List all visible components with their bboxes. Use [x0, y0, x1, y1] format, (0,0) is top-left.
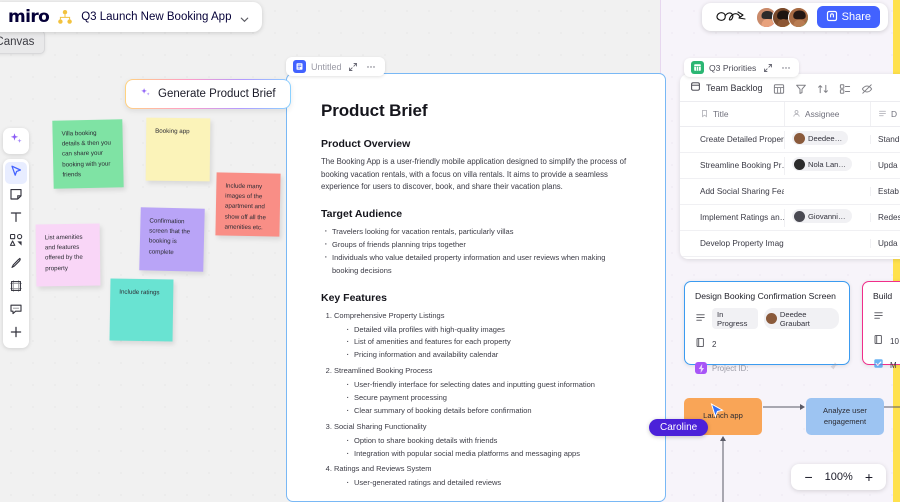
- card-check-row: M: [873, 356, 900, 374]
- note-include-ratings[interactable]: Include ratings: [110, 279, 174, 342]
- feature-sublist: Detailed villa profiles with high-qualit…: [346, 324, 633, 363]
- sparkle-icon: [9, 132, 23, 151]
- card-count-row: 10: [873, 332, 900, 350]
- sparkle-icon: [140, 87, 151, 101]
- card-title: Build: [873, 291, 900, 301]
- group-icon[interactable]: [839, 82, 851, 94]
- table-source-name[interactable]: Team Backlog: [690, 81, 763, 94]
- flow-node-label: Analyze user engagement: [810, 406, 880, 427]
- text-t-icon: [9, 210, 23, 229]
- team-board-icon: [57, 9, 73, 25]
- table-row[interactable]: Streamline Booking Pr…Nola Lan…Upda: [680, 153, 900, 179]
- assignee-label: Deedee…: [808, 134, 842, 143]
- expand-icon[interactable]: [347, 60, 360, 73]
- pin-icon[interactable]: [828, 359, 839, 377]
- assignee-pill[interactable]: Nola Lan…: [792, 157, 852, 171]
- table-header-row: Title Assignee D: [680, 102, 900, 127]
- note-villa-booking[interactable]: Villa booking details & then you can sha…: [52, 119, 123, 188]
- list-item: Detailed villa profiles with high-qualit…: [346, 324, 633, 337]
- generate-brief-label: Generate Product Brief: [158, 88, 276, 100]
- note-include-images[interactable]: Include many images of the apartment and…: [215, 172, 280, 236]
- feature-sublist: Option to share booking details with fri…: [346, 435, 633, 461]
- table-source-label: Team Backlog: [706, 83, 763, 93]
- bookmark-icon: [700, 109, 709, 120]
- card-count: 10: [890, 337, 899, 346]
- more-dots-icon[interactable]: [365, 60, 378, 73]
- cell-assignee[interactable]: Deedee…: [784, 131, 870, 149]
- table-chip-label: Q3 Priorities: [709, 63, 756, 73]
- share-lock-icon: [826, 10, 838, 25]
- table-icon: [691, 61, 704, 74]
- assignee-pill[interactable]: Deedee…: [792, 131, 848, 145]
- filter-icon[interactable]: [795, 82, 807, 94]
- list-item: List of amenities and features for each …: [346, 336, 633, 349]
- zoom-in-button[interactable]: +: [865, 470, 873, 484]
- cell-title[interactable]: Streamline Booking Pr…: [680, 161, 784, 170]
- checkbox-icon[interactable]: [873, 356, 884, 374]
- card-project-row: Project ID:: [695, 359, 839, 377]
- expand-icon[interactable]: [761, 61, 774, 74]
- list-item: Groups of friends planning trips togethe…: [323, 239, 633, 252]
- card-count: 2: [712, 340, 716, 349]
- comment-icon: [9, 302, 23, 321]
- product-overview-paragraph: The Booking App is a user-friendly mobil…: [321, 156, 633, 194]
- lightning-icon: [695, 362, 707, 374]
- table-row[interactable]: Add Social Sharing Fea…Estab: [680, 179, 900, 205]
- list-item: Travelers looking for vacation rentals, …: [323, 226, 633, 239]
- table-toolbar: Team Backlog: [680, 74, 900, 102]
- avatar: [794, 133, 805, 144]
- select-tool[interactable]: [5, 162, 27, 184]
- remote-cursor-pointer: [710, 403, 724, 420]
- zoom-control: − 100% +: [791, 464, 886, 490]
- share-label: Share: [842, 11, 871, 23]
- cell-title[interactable]: Add Social Sharing Fea…: [680, 187, 784, 196]
- frame-icon: [9, 279, 23, 298]
- description-icon: [878, 109, 887, 120]
- flow-node-analyze-engagement[interactable]: Analyze user engagement: [806, 398, 884, 435]
- cell-description[interactable]: Stand: [870, 135, 900, 144]
- table-body: Create Detailed Proper…Deedee…StandStrea…: [680, 127, 900, 257]
- board-title[interactable]: Q3 Launch New Booking App: [81, 11, 231, 23]
- sticky-note-tool[interactable]: [5, 185, 27, 207]
- section-heading-target-audience: Target Audience: [321, 208, 633, 220]
- document-chip[interactable]: Untitled: [286, 57, 385, 76]
- product-brief-document[interactable]: Product Brief Product Overview The Booki…: [286, 73, 666, 502]
- list-icon: [695, 310, 706, 328]
- table-row[interactable]: Implement Ratings an…Giovanni…Redes: [680, 205, 900, 231]
- doc-count-icon: [873, 332, 884, 350]
- list-item: Individuals who value detailed property …: [323, 252, 633, 278]
- sort-icon[interactable]: [817, 82, 829, 94]
- list-item: Secure payment processing: [346, 392, 633, 405]
- column-header-assignee[interactable]: Assignee: [784, 102, 870, 126]
- list-item: Ratings and Reviews System User-generate…: [334, 463, 633, 490]
- section-heading-key-features: Key Features: [321, 292, 633, 304]
- feature-label: Comprehensive Property Listings: [334, 311, 444, 320]
- card-status-row: [873, 308, 900, 326]
- ai-sparkle-tool[interactable]: [3, 128, 29, 154]
- table-row[interactable]: Create Detailed Proper…Deedee…Stand: [680, 127, 900, 153]
- avatar: [794, 159, 805, 170]
- card-build[interactable]: Build 10 M: [862, 281, 900, 365]
- cell-title[interactable]: Create Detailed Proper…: [680, 135, 784, 144]
- assignee-label: Giovanni…: [808, 212, 846, 221]
- board-header: miro Q3 Launch New Booking App: [0, 2, 262, 32]
- card-count-row: 2: [695, 335, 839, 353]
- note-booking-app[interactable]: Booking app: [146, 118, 211, 182]
- tool-group: [3, 159, 29, 348]
- table-row[interactable]: Develop Property Imag…Upda: [680, 231, 900, 257]
- doc-count-icon: [695, 335, 706, 353]
- cell-description[interactable]: Upda: [870, 239, 900, 248]
- cell-title[interactable]: Develop Property Imag…: [680, 239, 784, 248]
- status-badge[interactable]: In Progress: [712, 308, 758, 329]
- cell-description[interactable]: Upda: [870, 161, 900, 170]
- more-dots-icon[interactable]: [779, 61, 792, 74]
- feature-sublist: User-friendly interface for selecting da…: [346, 379, 633, 418]
- list-item: User-friendly interface for selecting da…: [346, 379, 633, 392]
- feature-label: Streamlined Booking Process: [334, 366, 432, 375]
- cell-title[interactable]: Implement Ratings an…: [680, 213, 784, 222]
- feature-label: Ratings and Reviews System: [334, 464, 432, 473]
- database-icon: [690, 81, 701, 94]
- generate-product-brief-button[interactable]: Generate Product Brief: [125, 79, 291, 109]
- list-item: Pricing information and availability cal…: [346, 349, 633, 362]
- list-item: Social Sharing Functionality Option to s…: [334, 421, 633, 461]
- table-chip[interactable]: Q3 Priorities: [684, 58, 799, 77]
- assignee-label: Nola Lan…: [808, 160, 846, 169]
- column-header-description[interactable]: D: [870, 102, 900, 126]
- card-status-row: In Progress Deedee Graubart: [695, 308, 839, 329]
- list-item: Comprehensive Property Listings Detailed…: [334, 310, 633, 363]
- comment-tool[interactable]: [5, 300, 27, 322]
- frame-tool[interactable]: [5, 277, 27, 299]
- share-button[interactable]: Share: [817, 6, 880, 28]
- card-design-booking-confirmation[interactable]: Design Booking Confirmation Screen In Pr…: [684, 281, 850, 365]
- column-label: Assignee: [805, 109, 839, 119]
- list-item: Streamlined Booking Process User-friendl…: [334, 365, 633, 418]
- list-item: User-generated ratings and detailed revi…: [346, 477, 633, 490]
- feature-sublist: User-generated ratings and detailed revi…: [346, 477, 633, 490]
- card-project-label: Project ID:: [712, 364, 748, 373]
- cell-assignee[interactable]: Nola Lan…: [784, 157, 870, 175]
- list-item: Clear summary of booking details before …: [346, 405, 633, 418]
- avatar-group[interactable]: [756, 7, 809, 28]
- assignee-pill[interactable]: Giovanni…: [792, 209, 852, 223]
- document-chip-label: Untitled: [311, 62, 342, 72]
- cell-description[interactable]: Redes: [870, 213, 900, 222]
- pen-tool[interactable]: [5, 254, 27, 276]
- add-row-button[interactable]: +: [680, 257, 900, 259]
- feature-label: Social Sharing Functionality: [334, 422, 427, 431]
- list-item: Option to share booking details with fri…: [346, 435, 633, 448]
- left-toolbar: [3, 128, 29, 348]
- more-apps-tool[interactable]: [5, 323, 27, 345]
- column-label: Title: [713, 109, 729, 119]
- section-heading-product-overview: Product Overview: [321, 138, 633, 150]
- list-icon: [873, 308, 884, 326]
- miro-logo[interactable]: miro: [8, 7, 49, 27]
- cell-assignee[interactable]: Giovanni…: [784, 209, 870, 227]
- cursor-icon: [9, 164, 23, 183]
- cell-description[interactable]: Estab: [870, 187, 900, 196]
- sticky-note-icon: [9, 187, 23, 206]
- scribble-doodle: [714, 9, 748, 25]
- key-features-list: Comprehensive Property Listings Detailed…: [334, 310, 633, 491]
- chevron-down-icon[interactable]: [239, 12, 250, 23]
- card-title: Design Booking Confirmation Screen: [695, 291, 839, 301]
- zoom-out-button[interactable]: −: [804, 470, 812, 484]
- zoom-level[interactable]: 100%: [825, 471, 853, 483]
- background-tab-product-canvas[interactable]: t Canvas: [0, 30, 45, 54]
- target-audience-list: Travelers looking for vacation rentals, …: [323, 226, 633, 278]
- card-owner[interactable]: Deedee Graubart: [764, 308, 839, 329]
- text-tool[interactable]: [5, 208, 27, 230]
- document-icon: [293, 60, 306, 73]
- note-list-amenities[interactable]: List amenities and features offered by t…: [36, 224, 101, 287]
- column-header-title[interactable]: Title: [680, 102, 784, 126]
- list-item: Integration with popular social media pl…: [346, 448, 633, 461]
- collaboration-bar: Share: [702, 3, 888, 31]
- plus-icon: [9, 325, 23, 344]
- avatar: [766, 313, 777, 324]
- pen-icon: [9, 256, 23, 275]
- avatar: [794, 211, 805, 222]
- hide-fields-icon[interactable]: [861, 82, 873, 94]
- column-label: D: [891, 109, 897, 119]
- card-owner-label: Deedee Graubart: [780, 310, 833, 328]
- shapes-icon: [9, 233, 23, 252]
- grid-view-icon[interactable]: [773, 82, 785, 94]
- shapes-tool[interactable]: [5, 231, 27, 253]
- note-confirmation-screen[interactable]: Confirmation screen that the booking is …: [139, 207, 205, 272]
- avatar[interactable]: [788, 7, 809, 28]
- card-check-label: M: [890, 361, 897, 370]
- q3-priorities-table[interactable]: Team Backlog Title Assignee: [680, 74, 900, 259]
- person-icon: [792, 109, 801, 120]
- page-title: Product Brief: [321, 101, 633, 121]
- remote-cursor-label: Caroline: [649, 419, 708, 436]
